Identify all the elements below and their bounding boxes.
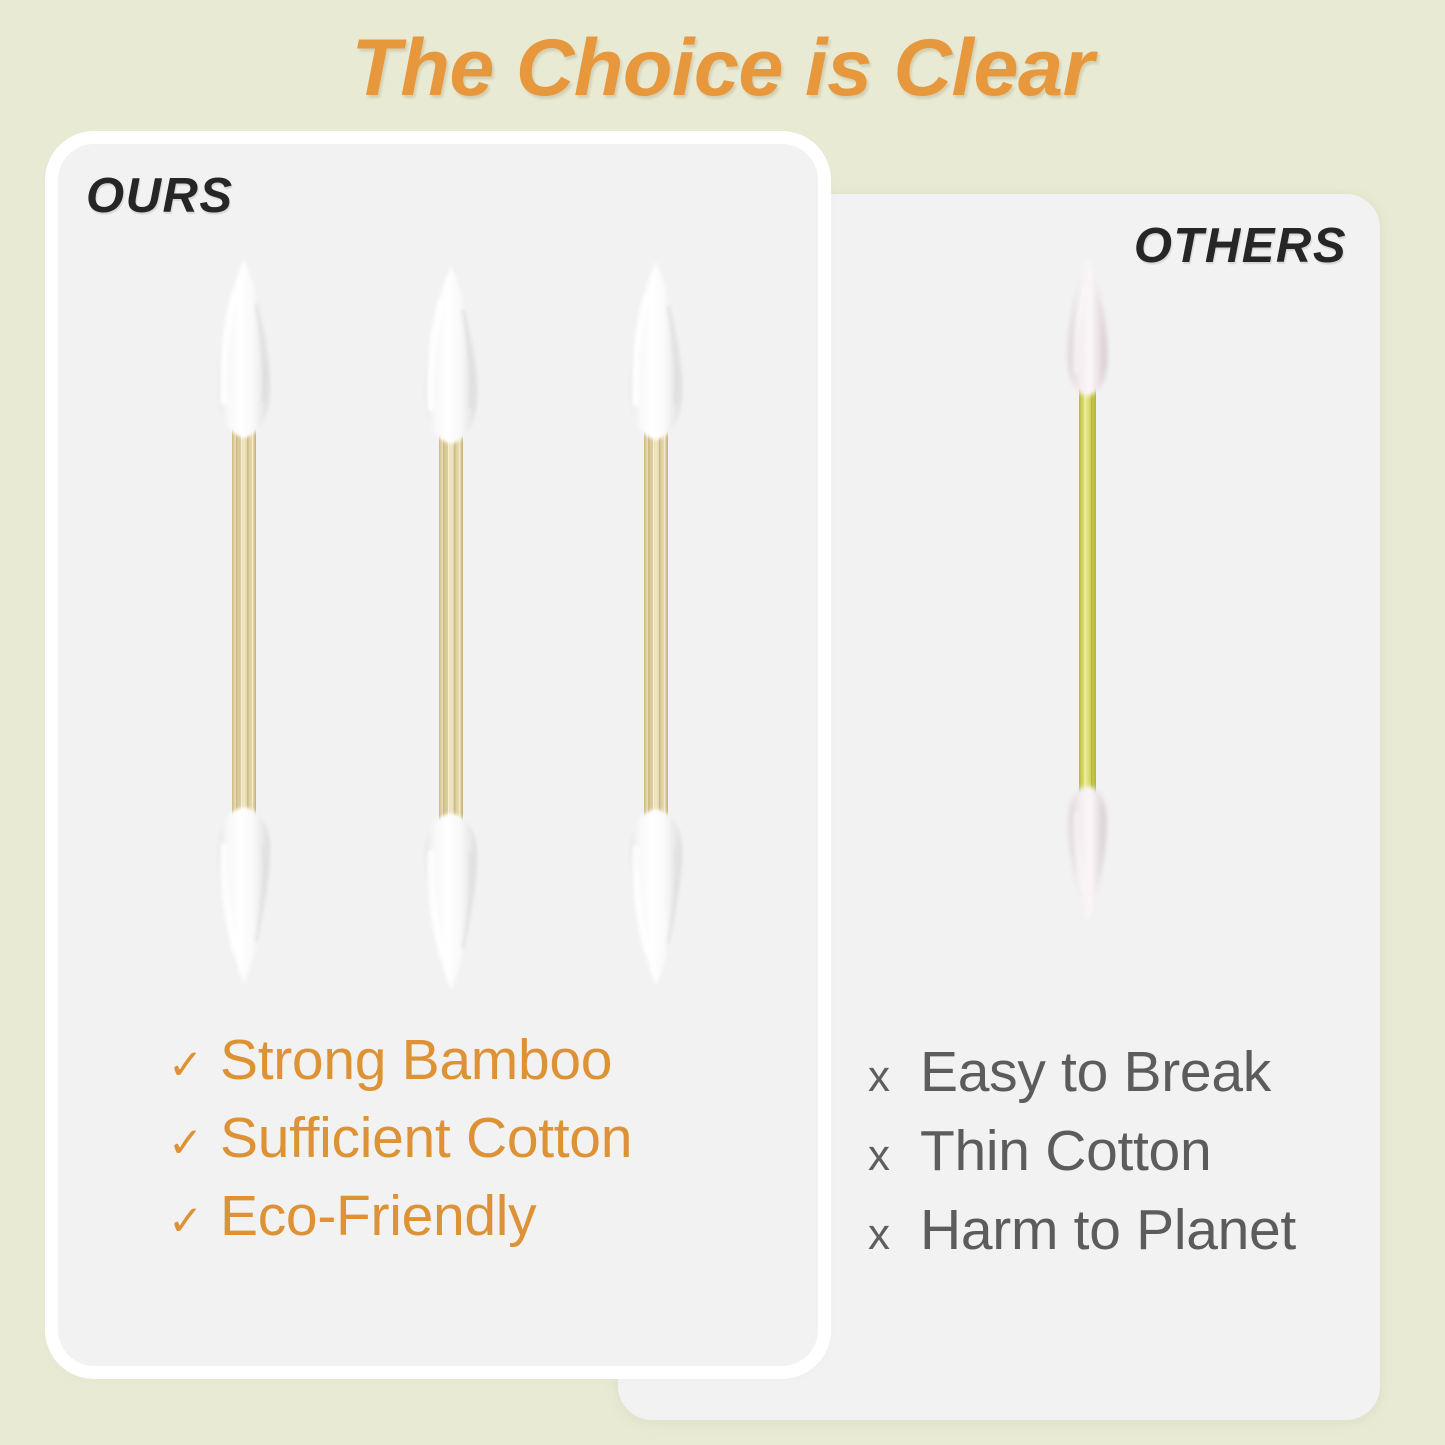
list-item-label: Easy to Break (920, 1044, 1271, 1101)
checkmark-icon: ✓ (168, 1122, 220, 1164)
card-label-ours: OURS (86, 168, 234, 224)
list-item: x Easy to Break (868, 1044, 1296, 1101)
list-item: x Thin Cotton (868, 1123, 1296, 1180)
card-label-others: OTHERS (1134, 218, 1347, 274)
list-item-label: Sufficient Cotton (220, 1110, 632, 1167)
swab-ours-1 (190, 252, 300, 992)
cross-icon: x (868, 1213, 920, 1257)
list-item-label: Eco-Friendly (220, 1188, 536, 1245)
swab-others-1 (1018, 240, 1158, 940)
feature-list-others: x Easy to Break x Thin Cotton x Harm to … (868, 1044, 1296, 1259)
list-item-label: Strong Bamboo (220, 1032, 612, 1089)
checkmark-icon: ✓ (168, 1200, 220, 1242)
list-item: ✓ Strong Bamboo (168, 1032, 632, 1089)
swab-ours-3 (602, 254, 712, 994)
list-item-label: Harm to Planet (920, 1202, 1296, 1259)
cross-icon: x (868, 1055, 920, 1099)
cross-icon: x (868, 1134, 920, 1178)
page-title: The Choice is Clear (0, 22, 1445, 115)
list-item-label: Thin Cotton (920, 1123, 1211, 1180)
swab-ours-2 (397, 258, 507, 998)
feature-list-ours: ✓ Strong Bamboo ✓ Sufficient Cotton ✓ Ec… (168, 1032, 632, 1245)
checkmark-icon: ✓ (168, 1044, 220, 1086)
list-item: ✓ Sufficient Cotton (168, 1110, 632, 1167)
list-item: ✓ Eco-Friendly (168, 1188, 632, 1245)
list-item: x Harm to Planet (868, 1202, 1296, 1259)
